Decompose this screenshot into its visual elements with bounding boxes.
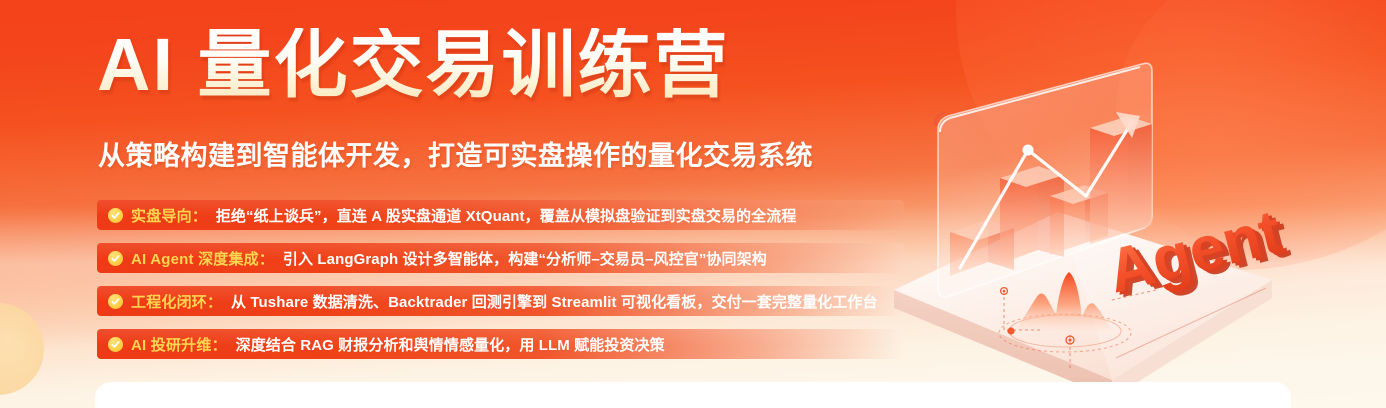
background-swoosh-secondary [1116, 0, 1386, 260]
feature-label: 实盘导向 [131, 205, 192, 226]
check-circle-icon [108, 337, 123, 352]
page-subtitle: 从策略构建到智能体开发，打造可实盘操作的量化交易系统 [98, 134, 813, 173]
peak-chart [999, 272, 1156, 368]
list-item[interactable]: 工程化闭环 ： 从 Tushare 数据清洗、Backtrader 回测引擎到 … [97, 286, 904, 316]
trend-arrow [960, 122, 1132, 268]
agent-wordmark: Agent Agent Agent [1101, 196, 1295, 313]
feature-text: 深度结合 RAG 财报分析和舆情情感量化，用 LLM 赋能投资决策 [236, 334, 691, 355]
feature-text: 拒绝“纸上谈兵”，直连 A 股实盘通道 XtQuant，覆盖从模拟盘验证到实盘交… [216, 205, 823, 226]
feature-separator: ： [207, 291, 222, 312]
feature-label: AI 投研升维 [131, 334, 212, 355]
arrow-head-icon [1116, 112, 1140, 138]
svg-text:Agent: Agent [1108, 202, 1295, 311]
banner-content: AI 量化交易训练营 从策略构建到智能体开发，打造可实盘操作的量化交易系统 实盘… [0, 0, 900, 408]
check-circle-icon [108, 208, 123, 223]
hero-illustration: Agent Agent Agent [880, 0, 1386, 408]
feature-label: 工程化闭环 [131, 291, 207, 312]
list-item[interactable]: AI Agent 深度集成 ： 引入 LangGraph 设计多智能体，构建“分… [97, 243, 904, 273]
feature-label: AI Agent 深度集成 [131, 248, 259, 269]
feature-list: 实盘导向 ： 拒绝“纸上谈兵”，直连 A 股实盘通道 XtQuant，覆盖从模拟… [97, 200, 904, 372]
svg-text:Agent: Agent [1105, 199, 1292, 308]
check-circle-icon [108, 294, 123, 309]
platform-edge-line [1116, 288, 1266, 358]
background-swoosh-top-right [956, 0, 1386, 270]
list-item[interactable]: 实盘导向 ： 拒绝“纸上谈兵”，直连 A 股实盘通道 XtQuant，覆盖从模拟… [97, 200, 904, 230]
bar-chart-3d [950, 116, 1152, 276]
feature-text: 引入 LangGraph 设计多智能体，构建“分析师–交易员–风控官”协同架构 [283, 248, 793, 269]
feature-separator: ： [192, 205, 207, 226]
feature-separator: ： [259, 248, 274, 269]
page-title: AI 量化交易训练营 [97, 28, 730, 102]
glass-panel [936, 63, 1152, 297]
feature-separator: ： [212, 334, 227, 355]
svg-text:Agent: Agent [1101, 197, 1288, 306]
check-circle-icon [108, 251, 123, 266]
platform-base [894, 212, 1272, 398]
promo-banner: Agent Agent Agent AI 量化交易训练营 从策略构建到智能体开发… [0, 0, 1386, 408]
list-item[interactable]: AI 投研升维 ： 深度结合 RAG 财报分析和舆情情感量化，用 LLM 赋能投… [97, 329, 904, 359]
feature-text: 从 Tushare 数据清洗、Backtrader 回测引擎到 Streamli… [231, 291, 904, 312]
